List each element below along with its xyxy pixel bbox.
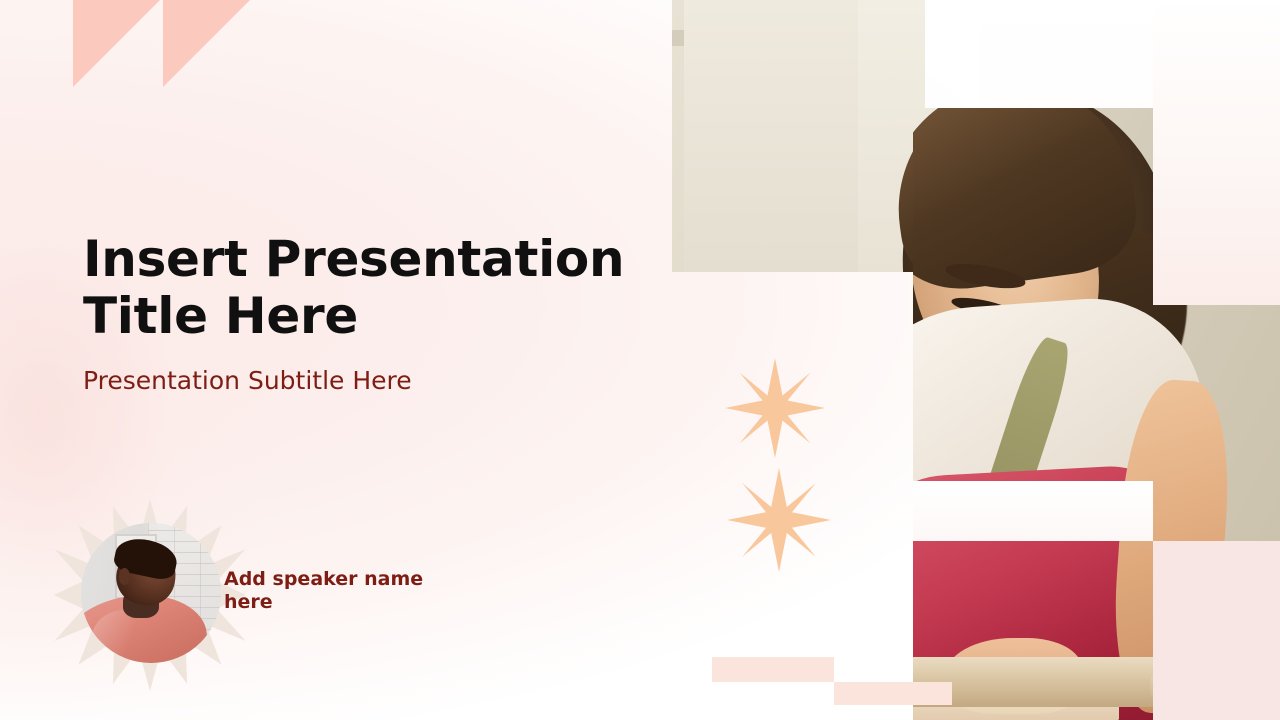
- speaker-block: Add speaker name here: [52, 490, 482, 700]
- triangle-decor-2: [163, 0, 250, 87]
- page-title: Insert Presentation Title Here: [83, 231, 643, 345]
- presentation-slide: Insert Presentation Title Here Presentat…: [0, 0, 1280, 720]
- hero-photo-block-right-strip: [1153, 305, 1280, 541]
- pink-bar-1: [712, 657, 834, 682]
- speaker-name-label: Add speaker name here: [224, 568, 444, 614]
- hero-photo-image: [672, 0, 925, 272]
- pale-pink-block-top-right: [1153, 0, 1280, 305]
- hero-photo-block-top-left: [672, 0, 925, 272]
- white-band-middle: [913, 481, 1153, 541]
- hero-photo-image: [1153, 305, 1280, 541]
- pink-bar-2: [834, 682, 952, 705]
- avatar: [81, 523, 221, 663]
- title-text-block: Insert Presentation Title Here Presentat…: [83, 231, 643, 396]
- pale-pink-block-bottom-right: [1153, 541, 1280, 720]
- triangle-decor-1: [73, 0, 160, 87]
- sparkle-star-2: [727, 468, 831, 572]
- page-subtitle: Presentation Subtitle Here: [83, 366, 643, 396]
- sparkle-star-1: [723, 358, 827, 458]
